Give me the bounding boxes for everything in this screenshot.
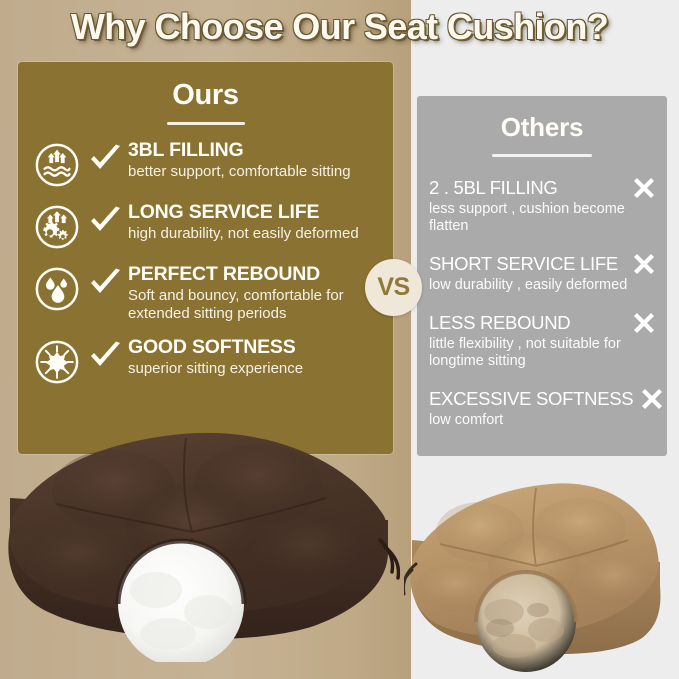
cross-icon bbox=[631, 251, 657, 277]
ours-feature-list: 3BL FILLING better support, comfortable … bbox=[18, 139, 393, 385]
ours-feature-title: PERFECT REBOUND bbox=[128, 263, 379, 286]
others-feature-subtitle: less support , cushion become flatten bbox=[429, 201, 657, 235]
vs-badge: VS bbox=[365, 259, 422, 316]
others-feature-subtitle: low comfort bbox=[429, 412, 657, 429]
cross-icon bbox=[631, 175, 657, 201]
cross-icon bbox=[631, 310, 657, 336]
ours-feature-text: PERFECT REBOUND Soft and bouncy, comfort… bbox=[128, 263, 379, 323]
sun-burst-icon bbox=[34, 339, 80, 385]
others-panel: Others 2 . 5BL FILLING less support , cu… bbox=[417, 96, 667, 456]
ours-heading: Ours bbox=[18, 79, 393, 112]
ours-feature-title: LONG SERVICE LIFE bbox=[128, 201, 379, 224]
page-title: Why Choose Our Seat Cushion? bbox=[0, 6, 679, 48]
others-feature-title: LESS REBOUND bbox=[429, 312, 570, 334]
others-feature-item: 2 . 5BL FILLING less support , cushion b… bbox=[417, 175, 667, 235]
arrows-gears-icon bbox=[34, 204, 80, 250]
ours-feature-text: LONG SERVICE LIFE high durability, not e… bbox=[128, 201, 379, 243]
others-feature-title: 2 . 5BL FILLING bbox=[429, 177, 558, 199]
ours-feature-title: GOOD SOFTNESS bbox=[128, 336, 379, 359]
others-heading: Others bbox=[417, 112, 667, 143]
ours-panel: Ours bbox=[18, 62, 393, 454]
ours-feature-title: 3BL FILLING bbox=[128, 139, 379, 162]
check-icon bbox=[89, 341, 123, 371]
ours-feature-subtitle: superior sitting experience bbox=[128, 360, 379, 378]
water-droplets-icon bbox=[34, 266, 80, 312]
ours-feature-item: LONG SERVICE LIFE high durability, not e… bbox=[18, 201, 393, 250]
others-feature-subtitle: low durability , easily deformed bbox=[429, 277, 657, 294]
check-icon bbox=[89, 206, 123, 236]
vs-label: VS bbox=[377, 273, 409, 302]
ours-divider bbox=[167, 122, 245, 125]
others-feature-subtitle: little flexibility , not suitable for lo… bbox=[429, 336, 657, 370]
ours-feature-item: GOOD SOFTNESS superior sitting experienc… bbox=[18, 336, 393, 385]
ours-feature-subtitle: better support, comfortable sitting bbox=[128, 163, 379, 181]
others-feature-item: SHORT SERVICE LIFE low durability , easi… bbox=[417, 251, 667, 294]
ours-feature-item: PERFECT REBOUND Soft and bouncy, comfort… bbox=[18, 263, 393, 323]
infographic-root: Why Choose Our Seat Cushion? Ours bbox=[0, 0, 679, 679]
tan-tufted-seat-cushion-with-dingy-fill-cutaway bbox=[404, 470, 666, 675]
ours-feature-text: 3BL FILLING better support, comfortable … bbox=[128, 139, 379, 181]
others-feature-item: EXCESSIVE SOFTNESS low comfort bbox=[417, 386, 667, 429]
ours-feature-subtitle: Soft and bouncy, comfortable for extende… bbox=[128, 287, 379, 323]
others-divider bbox=[492, 154, 592, 157]
ours-feature-item: 3BL FILLING better support, comfortable … bbox=[18, 139, 393, 188]
brown-tufted-seat-cushion-with-white-fill-cutaway bbox=[0, 412, 400, 662]
arrows-waves-icon bbox=[34, 142, 80, 188]
others-feature-title: SHORT SERVICE LIFE bbox=[429, 253, 618, 275]
ours-feature-text: GOOD SOFTNESS superior sitting experienc… bbox=[128, 336, 379, 378]
others-feature-title: EXCESSIVE SOFTNESS bbox=[429, 388, 633, 410]
check-icon bbox=[89, 268, 123, 298]
ours-feature-subtitle: high durability, not easily deformed bbox=[128, 225, 379, 243]
check-icon bbox=[89, 144, 123, 174]
others-feature-item: LESS REBOUND little flexibility , not su… bbox=[417, 310, 667, 370]
cross-icon bbox=[639, 386, 665, 412]
others-feature-list: 2 . 5BL FILLING less support , cushion b… bbox=[417, 175, 667, 429]
